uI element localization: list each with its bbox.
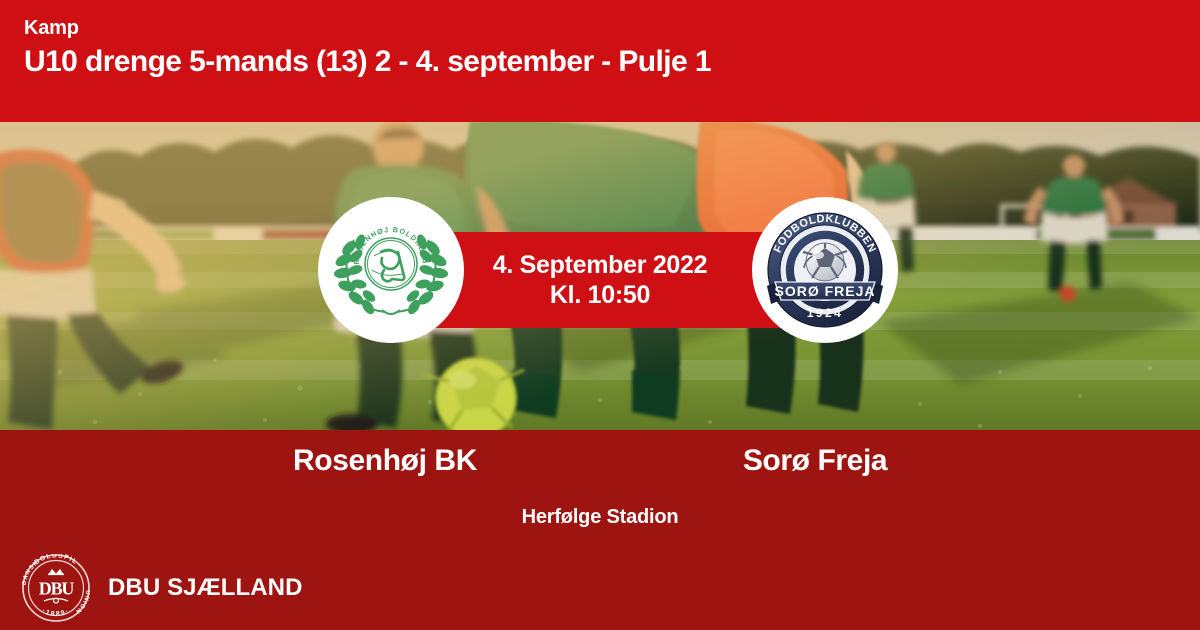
dbu-logo-icon: BOLDSPIL DANSK UNION ·1889·: [22, 554, 90, 622]
match-promo-card: Kamp U10 drenge 5-mands (13) 2 - 4. sept…: [0, 0, 1200, 630]
svg-text:1924: 1924: [807, 306, 843, 320]
away-team-name: Sorø Freja: [615, 444, 1015, 478]
venue-name: Herfølge Stadion: [0, 506, 1200, 529]
svg-text:SORØ FREJA: SORØ FREJA: [774, 283, 875, 299]
match-date: 4. September 2022: [493, 250, 707, 280]
away-team-crest-badge[interactable]: FODBOLDKLUBBEN SORØ FREJA 1924: [752, 197, 898, 343]
home-team-crest-badge[interactable]: ROSENHØJ BOLDKLUB: [318, 197, 464, 343]
footer-bar: BOLDSPIL DANSK UNION ·1889·: [0, 545, 1200, 630]
teams-strip: Rosenhøj BK Sorø Freja Herfølge Stadion: [0, 430, 1200, 545]
svg-text:DBU: DBU: [39, 578, 75, 598]
header-band: Kamp U10 drenge 5-mands (13) 2 - 4. sept…: [0, 0, 1200, 122]
footer-organisation-name: DBU SJÆLLAND: [108, 574, 303, 602]
svg-text:UNION: UNION: [74, 589, 90, 615]
page-title: U10 drenge 5-mands (13) 2 - 4. september…: [24, 40, 1200, 84]
soro-freja-crest-icon: FODBOLDKLUBBEN SORØ FREJA 1924: [765, 210, 885, 330]
svg-text:DANSK: DANSK: [22, 558, 40, 585]
rosenhoj-boldklub-crest-icon: ROSENHØJ BOLDKLUB: [332, 218, 450, 322]
header-eyebrow: Kamp: [24, 16, 1200, 40]
home-team-name: Rosenhøj BK: [185, 444, 585, 478]
svg-text:·1889·: ·1889·: [41, 607, 71, 617]
match-time: Kl. 10:50: [550, 280, 650, 310]
